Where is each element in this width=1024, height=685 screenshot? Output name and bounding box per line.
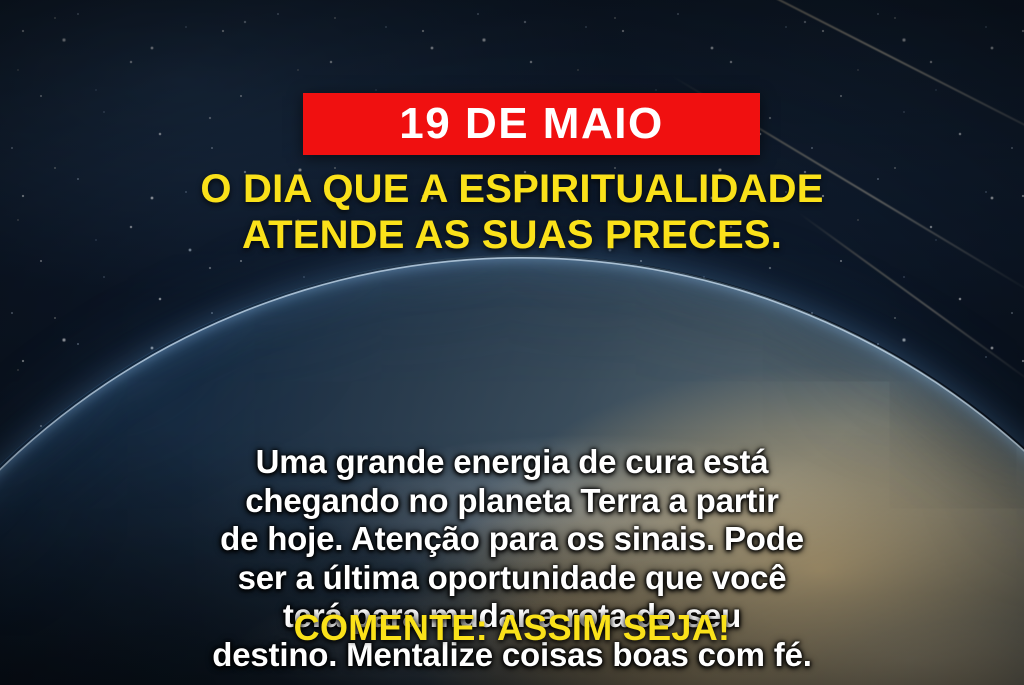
poster-content: 19 DE MAIO O DIA QUE A ESPIRITUALIDADE A… [0,0,1024,685]
headline-line-1: O DIA QUE A ESPIRITUALIDADE [40,166,984,212]
body-line-2: chegando no planeta Terra a partir [50,482,974,521]
call-to-action-text: COMENTE: ASSIM SEJA! [0,610,1024,646]
date-banner: 19 DE MAIO [303,93,760,155]
headline: O DIA QUE A ESPIRITUALIDADE ATENDE AS SU… [0,166,1024,259]
body-line-4: ser a última oportunidade que você [50,559,974,598]
body-line-3: de hoje. Atenção para os sinais. Pode [50,520,974,559]
headline-line-2: ATENDE AS SUAS PRECES. [40,212,984,258]
body-line-1: Uma grande energia de cura está [50,443,974,482]
date-banner-text: 19 DE MAIO [399,102,663,146]
poster-canvas: 19 DE MAIO O DIA QUE A ESPIRITUALIDADE A… [0,0,1024,685]
